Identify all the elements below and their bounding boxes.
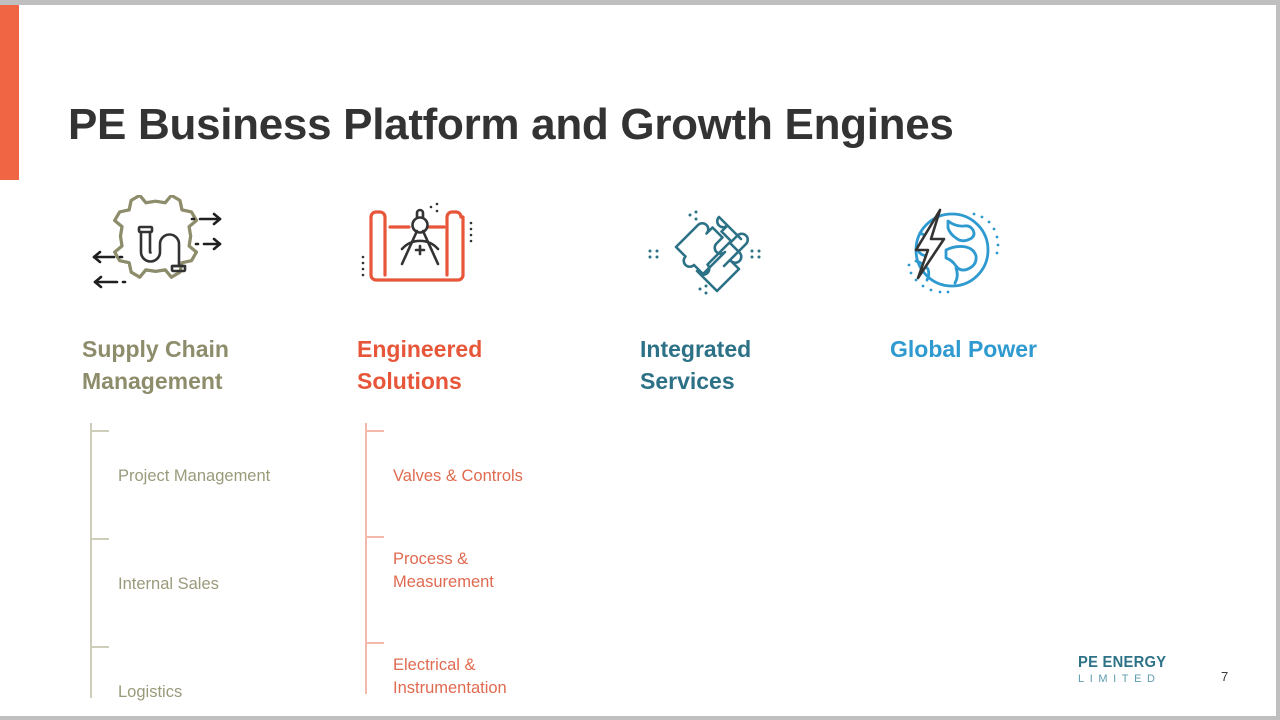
bullet-list: Project Management Internal Sales Logist… xyxy=(82,419,332,704)
list-item[interactable]: Process & Measurement xyxy=(393,502,607,594)
slide-canvas: PE Business Platform and Growth Engines xyxy=(0,0,1280,720)
puzzle-pieces-icon xyxy=(640,195,760,305)
list-item-label: Electrical & Instrumentation xyxy=(393,656,507,697)
column-title: Supply Chain Management xyxy=(82,333,332,397)
list-item[interactable]: Electrical & Instrumentation xyxy=(393,608,607,700)
bracket-line xyxy=(90,423,92,698)
page-title: PE Business Platform and Growth Engines xyxy=(68,100,954,150)
tick-mark xyxy=(366,536,384,538)
list-item[interactable]: Project Management xyxy=(118,419,332,488)
tick-mark xyxy=(91,646,109,648)
tick-mark xyxy=(91,538,109,540)
bullet-list: Valves & Controls Process & Measurement … xyxy=(357,419,607,700)
logo-subtext: LIMITED xyxy=(1078,672,1208,686)
list-item[interactable]: Internal Sales xyxy=(118,527,332,596)
column-title: Engineered Solutions xyxy=(357,333,607,397)
gear-pipe-icon xyxy=(82,195,202,305)
list-item-label: Logistics xyxy=(118,683,182,701)
logo-wordmark: PE ENERGY xyxy=(1078,655,1198,671)
globe-lightning-icon xyxy=(890,195,1010,305)
column-global-power: Global Power xyxy=(890,195,1140,365)
bracket-line xyxy=(365,423,367,694)
column-title: Integrated Services xyxy=(640,333,890,397)
list-item-label: Internal Sales xyxy=(118,575,219,593)
tick-mark xyxy=(366,430,384,432)
list-item-label: Process & Measurement xyxy=(393,550,494,591)
tick-mark xyxy=(366,642,384,644)
column-integrated-services: Integrated Services xyxy=(640,195,890,397)
blueprint-compass-icon xyxy=(357,195,477,305)
column-supply-chain-management: Supply Chain Management Project Manageme… xyxy=(82,195,332,720)
column-title: Global Power xyxy=(890,333,1140,365)
tick-mark xyxy=(91,430,109,432)
list-item[interactable]: Valves & Controls xyxy=(393,419,607,488)
list-item-label: Valves & Controls xyxy=(393,467,523,485)
column-engineered-solutions: Engineered Solutions Valves & Controls P… xyxy=(357,195,607,714)
pe-energy-logo: PE ENERGY LIMITED xyxy=(1078,655,1208,686)
list-item-label: Project Management xyxy=(118,467,270,485)
page-number: 7 xyxy=(1221,669,1228,684)
accent-bar xyxy=(0,5,19,180)
list-item[interactable]: Logistics xyxy=(118,635,332,704)
